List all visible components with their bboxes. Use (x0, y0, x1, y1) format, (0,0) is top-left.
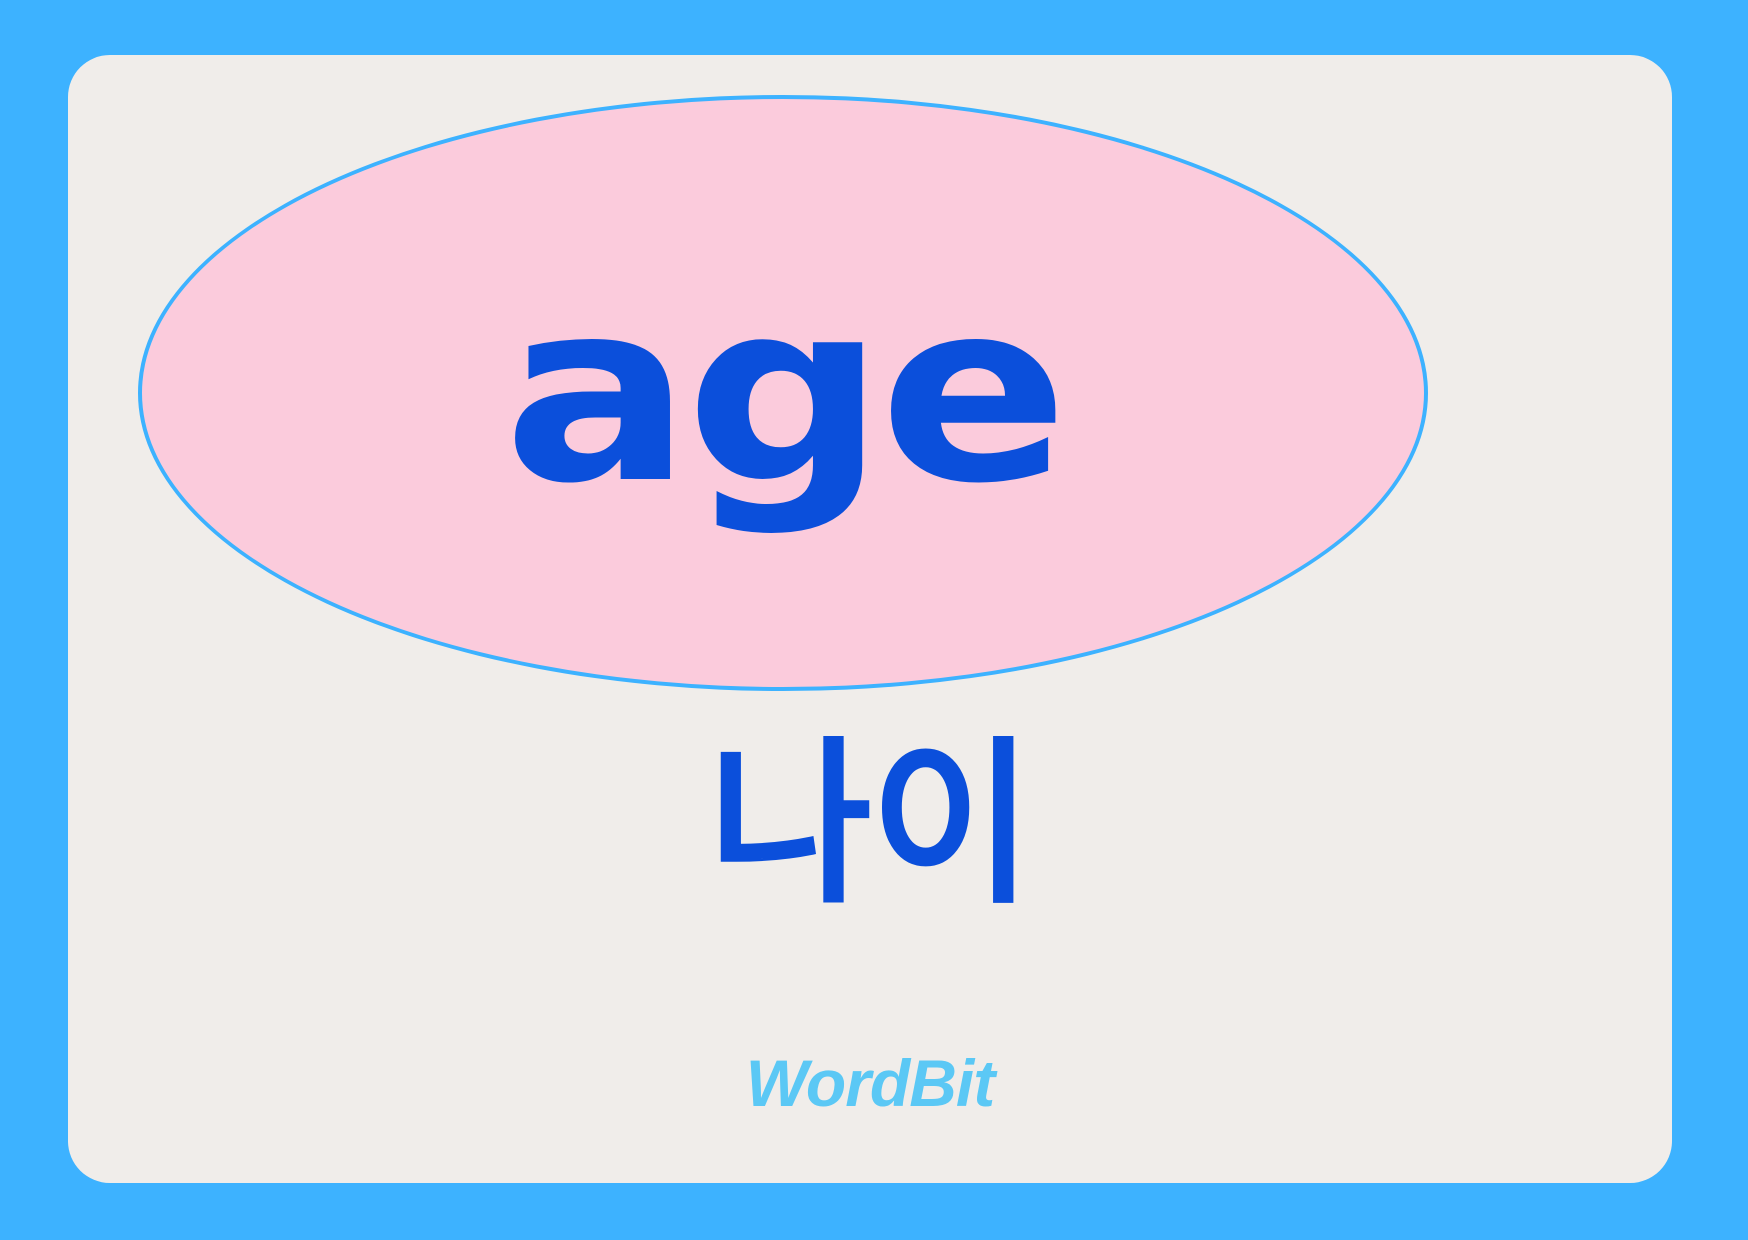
term-bubble-ellipse: age (138, 95, 1428, 691)
translation-word: 나이 (68, 727, 1672, 923)
flashcard-root: age 나이 WordBit (0, 0, 1748, 1240)
flashcard-card: age 나이 WordBit (68, 55, 1672, 1183)
brand-wordmark: WordBit (68, 1050, 1672, 1116)
term-word: age (503, 268, 1062, 518)
